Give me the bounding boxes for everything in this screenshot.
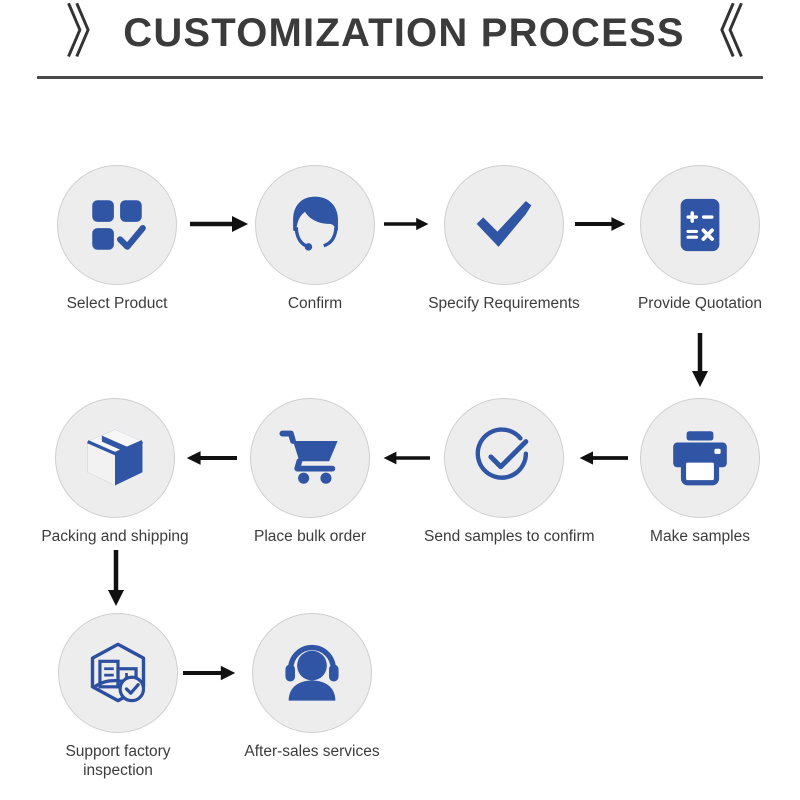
icon-circle	[55, 398, 175, 518]
factory-inspection-icon	[84, 639, 152, 707]
checkmark-icon	[469, 190, 539, 260]
process-step-after-sales-services[interactable]: After-sales services	[232, 613, 392, 761]
process-step-support-factory-inspection[interactable]: Support factory inspection	[38, 613, 198, 780]
arrow-left-bulk-order-to-packing	[185, 447, 237, 469]
icon-circle	[255, 165, 375, 285]
arrow-right-inspection-to-after-sales	[183, 662, 237, 684]
step-label: Select Product	[37, 294, 197, 313]
process-step-provide-quotation[interactable]: Provide Quotation	[620, 165, 780, 313]
process-step-packing-and-shipping[interactable]: Packing and shipping	[35, 398, 195, 546]
icon-circle	[252, 613, 372, 733]
arrow-right-specify-to-quotation	[575, 213, 627, 235]
process-step-send-samples-to-confirm[interactable]: Send samples to confirm	[424, 398, 584, 546]
arrow-right-select-to-confirm	[190, 213, 250, 235]
arrow-left-send-samples-to-bulk-order	[382, 447, 430, 469]
icon-circle	[444, 398, 564, 518]
step-label: Packing and shipping	[35, 527, 195, 546]
icon-circle	[58, 613, 178, 733]
step-label: After-sales services	[232, 742, 392, 761]
arrow-right-confirm-to-specify	[384, 213, 430, 235]
step-label: Make samples	[620, 527, 780, 546]
process-step-confirm[interactable]: Confirm	[235, 165, 395, 313]
package-box-icon	[80, 423, 150, 493]
process-step-specify-requirements[interactable]: Specify Requirements	[424, 165, 584, 313]
process-step-select-product[interactable]: Select Product	[37, 165, 197, 313]
icon-circle	[640, 398, 760, 518]
arrow-down-quotation-to-make-samples	[689, 333, 711, 387]
calculator-icon	[669, 194, 731, 256]
step-label: Send samples to confirm	[424, 527, 584, 546]
icon-circle	[640, 165, 760, 285]
printer-icon	[667, 425, 733, 491]
arrow-down-packing-to-inspection	[105, 550, 127, 606]
circle-check-icon	[469, 423, 539, 493]
step-label: Provide Quotation	[620, 294, 780, 313]
arrow-left-make-samples-to-send-samples	[578, 447, 628, 469]
headset-person-icon	[278, 639, 346, 707]
step-label: Specify Requirements	[424, 294, 584, 313]
icon-circle	[444, 165, 564, 285]
step-label: Place bulk order	[230, 527, 390, 546]
icon-circle	[250, 398, 370, 518]
icon-circle	[57, 165, 177, 285]
process-step-make-samples[interactable]: Make samples	[620, 398, 780, 546]
process-flow-canvas: Select Product Confirm Specify Requirem	[0, 0, 800, 800]
step-label: Confirm	[235, 294, 395, 313]
support-agent-icon	[280, 190, 350, 260]
grid-check-icon	[84, 192, 150, 258]
shopping-cart-icon	[276, 424, 344, 492]
step-label: Support factory inspection	[38, 742, 198, 780]
process-step-place-bulk-order[interactable]: Place bulk order	[230, 398, 390, 546]
